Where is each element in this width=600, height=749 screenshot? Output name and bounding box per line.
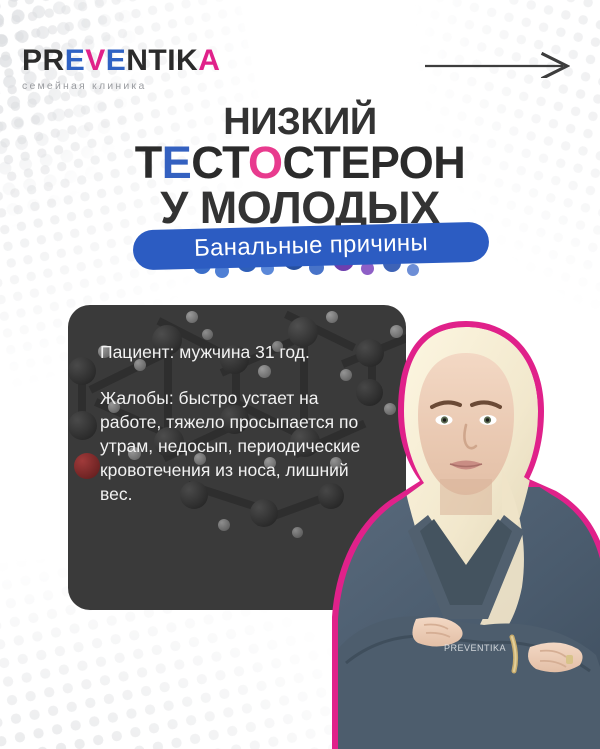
headline-line-2: ТЕСТОСТЕРОН	[0, 141, 600, 184]
brand-logo: PREVENTIKA семейная клиника	[22, 46, 220, 92]
brand-logo-wordmark: PREVENTIKA	[22, 46, 220, 76]
right-arrow-icon	[425, 52, 570, 78]
headline-line-3: У МОЛОДЫХ	[0, 186, 600, 229]
headline-part-st: СТ	[191, 137, 248, 188]
headline-part-steron: СТЕРОН	[282, 137, 465, 188]
subtitle-pill-label: Банальные причины	[194, 229, 429, 263]
svg-text:PREVENTIKA: PREVENTIKA	[444, 643, 506, 653]
logo-part-e2: E	[106, 44, 127, 77]
headline-part-t: Т	[135, 137, 162, 188]
logo-part-a: A	[198, 44, 220, 77]
logo-part-v: V	[85, 44, 106, 77]
logo-part-pr: PR	[22, 44, 65, 77]
headline-part-e: Е	[162, 137, 192, 188]
logo-part-ntik: NTIK	[126, 44, 198, 77]
logo-part-e1: E	[65, 44, 86, 77]
headline-block: НИЗКИЙ ТЕСТОСТЕРОН У МОЛОДЫХ	[0, 104, 600, 229]
poster-root: PREVENTIKA семейная клиника НИЗКИЙ ТЕСТО…	[0, 0, 600, 749]
headline-line-1: НИЗКИЙ	[0, 104, 600, 140]
doctor-photo: PREVENTIKA	[316, 319, 600, 749]
headline-part-o: О	[248, 137, 283, 188]
subtitle-pill: Банальные причины	[133, 222, 490, 271]
brand-tagline: семейная клиника	[22, 80, 220, 92]
